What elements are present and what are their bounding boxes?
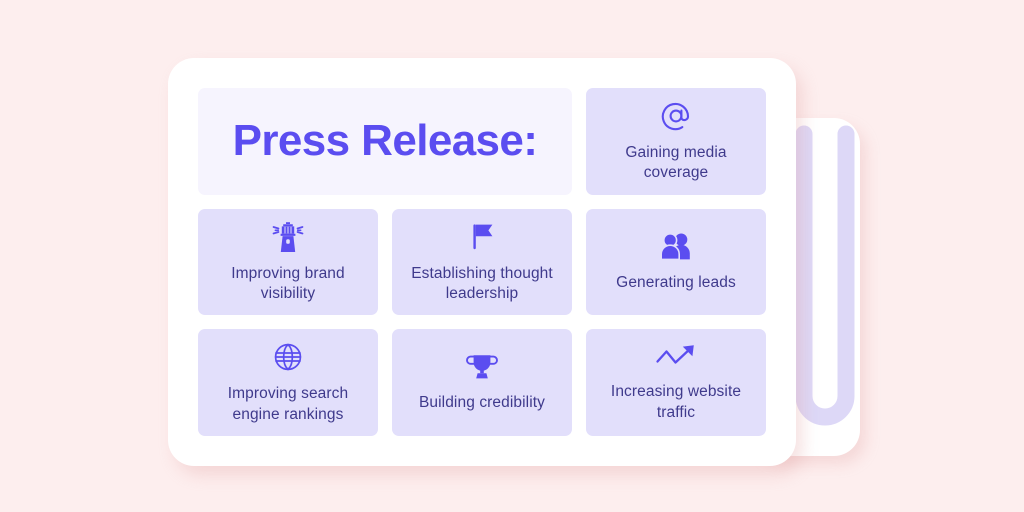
trophy-icon [464,351,500,383]
page-title-tile: Press Release: [198,88,572,195]
trending-up-arrow-icon [654,342,698,372]
at-sign-icon [659,99,693,133]
flag-icon [465,220,499,254]
tile-increasing-website-traffic[interactable]: Increasing website traffic [586,329,766,436]
tile-label: Increasing website traffic [594,382,758,423]
tile-label: Gaining media coverage [594,143,758,184]
infographic-canvas: Press Release: Gaining media coverage [0,0,1024,512]
people-icon [656,231,696,263]
tile-generating-leads[interactable]: Generating leads [586,209,766,316]
lighthouse-icon [268,220,308,254]
benefits-grid: Press Release: Gaining media coverage [198,88,766,436]
tile-label: Establishing thought leadership [400,264,564,305]
page-title: Press Release: [233,116,538,166]
tile-label: Improving brand visibility [206,264,370,305]
tile-label: Building credibility [419,393,545,413]
tile-label: Improving search engine rankings [206,384,370,425]
paper-clip-icon [794,124,856,436]
tile-label: Generating leads [616,273,736,293]
globe-icon [271,340,305,374]
press-release-card: Press Release: Gaining media coverage [168,58,796,466]
tile-establishing-thought-leadership[interactable]: Establishing thought leadership [392,209,572,316]
tile-improving-search-engine-rankings[interactable]: Improving search engine rankings [198,329,378,436]
tile-improving-brand-visibility[interactable]: Improving brand visibility [198,209,378,316]
tile-building-credibility[interactable]: Building credibility [392,329,572,436]
tile-gaining-media-coverage[interactable]: Gaining media coverage [586,88,766,195]
